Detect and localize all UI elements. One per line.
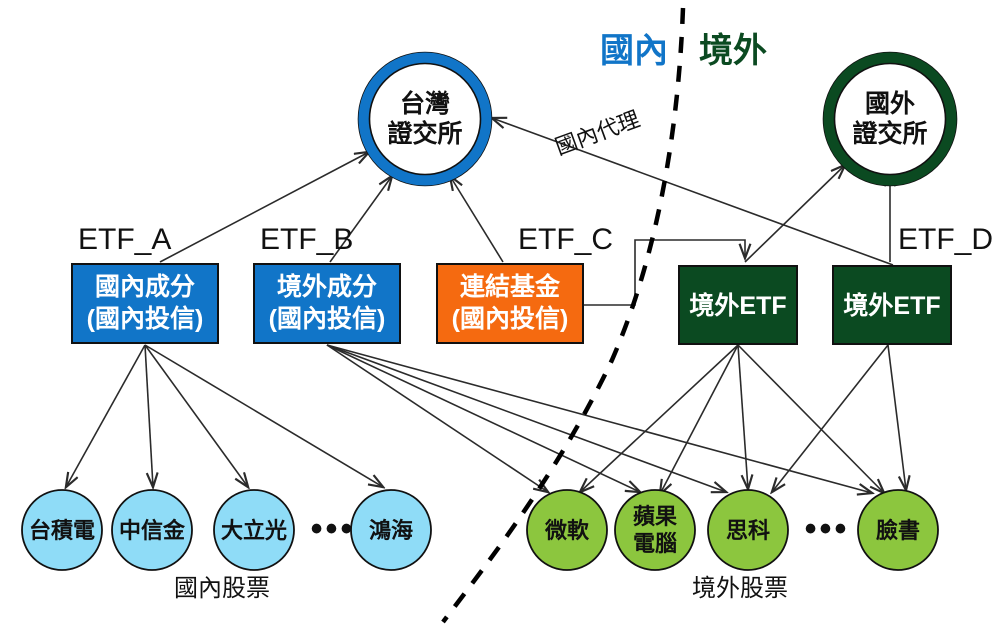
stock-apple[interactable]: 蘋果 電腦	[615, 490, 695, 570]
edge-label-domestic-agent: 國內代理	[552, 106, 643, 160]
fund-etf-b-tag: ETF_B	[260, 223, 353, 256]
fund-etf-c-tag: ETF_C	[518, 223, 613, 256]
edges-etf-a-to-domestic-stocks	[66, 345, 383, 487]
fund-etf-d[interactable]: 境外ETF	[833, 266, 951, 344]
fund-etf-b-label-2: (國內投信)	[269, 304, 386, 333]
exchange-twse-label-2: 證交所	[387, 119, 462, 148]
stock-honhai[interactable]: 鴻海	[351, 490, 431, 570]
stock-facebook-label: 臉書	[876, 518, 920, 543]
exchange-twse[interactable]: 台灣 證交所	[359, 53, 492, 186]
edges-etf-d-to-foreign-stocks	[772, 345, 906, 492]
stock-ctbc-label: 中信金	[119, 518, 186, 543]
fund-etf-a-label-1: 國內成分	[95, 273, 195, 301]
stock-ctbc[interactable]: 中信金	[112, 490, 192, 570]
diagram-canvas: 國內代理 台灣 證交所 國外 證交所 國內 境外 國內成分 (國內投信) ETF…	[0, 0, 1000, 628]
domestic-stocks-ellipsis: •••	[311, 510, 356, 548]
exchange-twse-label-1: 台灣	[400, 89, 450, 118]
stock-microsoft[interactable]: 微軟	[527, 490, 607, 570]
domestic-stocks-group-label: 國內股票	[174, 575, 270, 602]
stock-apple-label-2: 電腦	[633, 531, 677, 556]
header-domestic: 國內	[600, 32, 668, 70]
fund-etf-b[interactable]: 境外成分 (國內投信)	[254, 264, 400, 343]
exchange-foreign-label-1: 國外	[865, 89, 915, 118]
fund-etf-b-label-1: 境外成分	[277, 272, 377, 301]
fund-etf-a[interactable]: 國內成分 (國內投信)	[72, 264, 218, 343]
fund-etf-c-label-2: (國內投信)	[452, 304, 569, 333]
foreign-stocks-group-label: 境外股票	[692, 575, 788, 602]
fund-etf-d-label: 境外ETF	[843, 291, 940, 320]
fund-etf-a-tag: ETF_A	[78, 223, 171, 256]
fund-offshore-etf-1[interactable]: 境外ETF	[679, 266, 797, 344]
edges-offshore-etf-1-to-foreign-stocks	[580, 345, 884, 494]
edges-etf-b-to-foreign-stocks	[327, 345, 872, 493]
fund-etf-c-label-1: 連結基金	[460, 272, 561, 301]
foreign-stocks-ellipsis: •••	[805, 510, 850, 548]
fund-etf-c[interactable]: 連結基金 (國內投信)	[437, 264, 583, 343]
stock-facebook[interactable]: 臉書	[858, 490, 938, 570]
stock-tsmc-label: 台積電	[29, 518, 95, 543]
fund-etf-d-tag: ETF_D	[898, 223, 993, 256]
stock-cisco-label: 思科	[726, 518, 770, 543]
stock-apple-label-1: 蘋果	[633, 504, 677, 529]
stock-largan[interactable]: 大立光	[214, 490, 294, 570]
stock-microsoft-label: 微軟	[544, 518, 590, 543]
stock-tsmc[interactable]: 台積電	[22, 490, 102, 570]
exchange-foreign[interactable]: 國外 證交所	[824, 53, 957, 186]
exchange-foreign-label-2: 證交所	[852, 119, 927, 148]
stock-largan-label: 大立光	[221, 518, 287, 543]
stock-honhai-label: 鴻海	[369, 518, 413, 543]
diagram-svg: 國內代理 台灣 證交所 國外 證交所 國內 境外 國內成分 (國內投信) ETF…	[0, 0, 1000, 628]
header-foreign: 境外	[699, 32, 767, 70]
fund-offshore-etf-1-label: 境外ETF	[689, 291, 786, 320]
stock-cisco[interactable]: 思科	[708, 490, 788, 570]
fund-etf-a-label-2: (國內投信)	[87, 304, 204, 333]
